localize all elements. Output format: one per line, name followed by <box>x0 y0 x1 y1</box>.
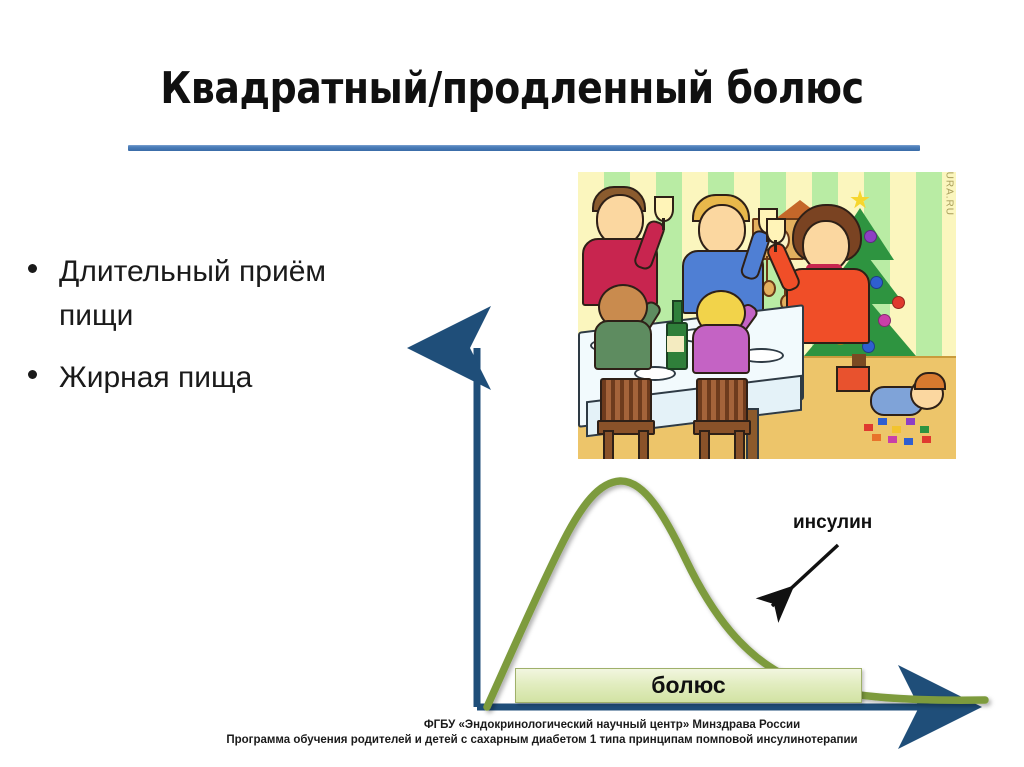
chair <box>696 378 744 456</box>
title-divider <box>128 145 920 151</box>
image-watermark: CARICATURA.RU <box>943 172 954 216</box>
bottle-label <box>667 336 684 352</box>
confetti <box>922 436 931 443</box>
chair-leg <box>603 430 614 459</box>
confetti <box>906 418 915 425</box>
torso <box>692 324 750 374</box>
footer-program: Программа обучения родителей и детей с с… <box>0 733 1024 748</box>
bolus-bar-label: болюс <box>651 672 725 699</box>
footer: ФГБУ «Эндокринологический научный центр»… <box>0 718 1024 748</box>
torso <box>594 320 652 370</box>
list-item: Жирная пища <box>28 356 448 400</box>
bullet-text: Жирная пища <box>59 356 252 400</box>
chair-back <box>600 378 652 426</box>
wine-glass-icon <box>766 218 786 244</box>
pendulum-weight <box>762 280 776 297</box>
confetti <box>904 438 913 445</box>
page-title: Квадратный/продленный болюс <box>72 62 953 116</box>
tree-ball <box>878 314 891 327</box>
confetti <box>864 424 873 431</box>
child-hair <box>914 372 946 390</box>
chair-leg <box>638 430 649 459</box>
bolus-duration-bar: болюс <box>515 668 862 703</box>
gift-box <box>836 366 870 392</box>
tree-ball <box>892 296 905 309</box>
bullet-dot-icon <box>28 264 37 273</box>
pendulum-chain <box>766 256 768 282</box>
list-item: Длительный приём пищи <box>28 250 448 338</box>
bullet-dot-icon <box>28 370 37 379</box>
wine-glass-icon <box>654 196 674 222</box>
footer-organization: ФГБУ «Эндокринологический научный центр»… <box>0 718 1024 733</box>
chair-leg <box>734 430 745 459</box>
chair-leg <box>699 430 710 459</box>
insulin-annotation-label: инсулин <box>793 512 872 534</box>
tree-ball <box>864 230 877 243</box>
tree-ball <box>870 276 883 289</box>
illustration-new-year-dinner: CARICATURA.RU <box>578 172 956 459</box>
confetti <box>888 436 897 443</box>
chair-back <box>696 378 748 426</box>
confetti <box>878 418 887 425</box>
confetti <box>872 434 881 441</box>
bullet-text: Длительный приём пищи <box>59 250 389 338</box>
confetti <box>920 426 929 433</box>
confetti <box>892 426 901 433</box>
bullet-list: Длительный приём пищи Жирная пища <box>28 250 448 418</box>
head <box>698 204 746 256</box>
chair <box>600 378 648 456</box>
insulin-pointer-arrow <box>772 545 838 606</box>
